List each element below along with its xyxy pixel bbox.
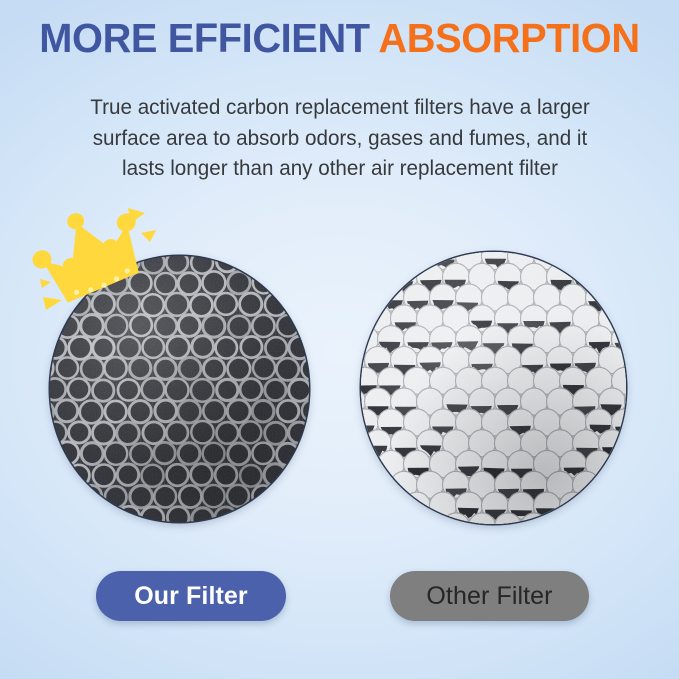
infographic-canvas: MORE EFFICIENTABSORPTION True activated … <box>0 0 679 679</box>
other-filter-image <box>361 252 626 524</box>
our-filter-label-pill[interactable]: Our Filter <box>96 571 286 621</box>
page-title-accent: ABSORPTION <box>378 15 639 61</box>
description-line-1: True activated carbon replacement filter… <box>71 92 609 123</box>
crown-icon <box>32 196 160 314</box>
description-line-2: surface area to absorb odors, gases and … <box>71 123 609 154</box>
other-filter-label-pill[interactable]: Other Filter <box>390 571 589 621</box>
page-title: MORE EFFICIENTABSORPTION <box>10 18 669 59</box>
other-filter-texture <box>361 252 626 524</box>
page-title-primary: MORE EFFICIENT <box>39 15 369 61</box>
description-text: True activated carbon replacement filter… <box>71 92 609 184</box>
description-line-3: lasts longer than any other air replacem… <box>71 153 609 184</box>
other-filter-label: Other Filter <box>426 582 552 611</box>
our-filter-label: Our Filter <box>134 582 248 611</box>
